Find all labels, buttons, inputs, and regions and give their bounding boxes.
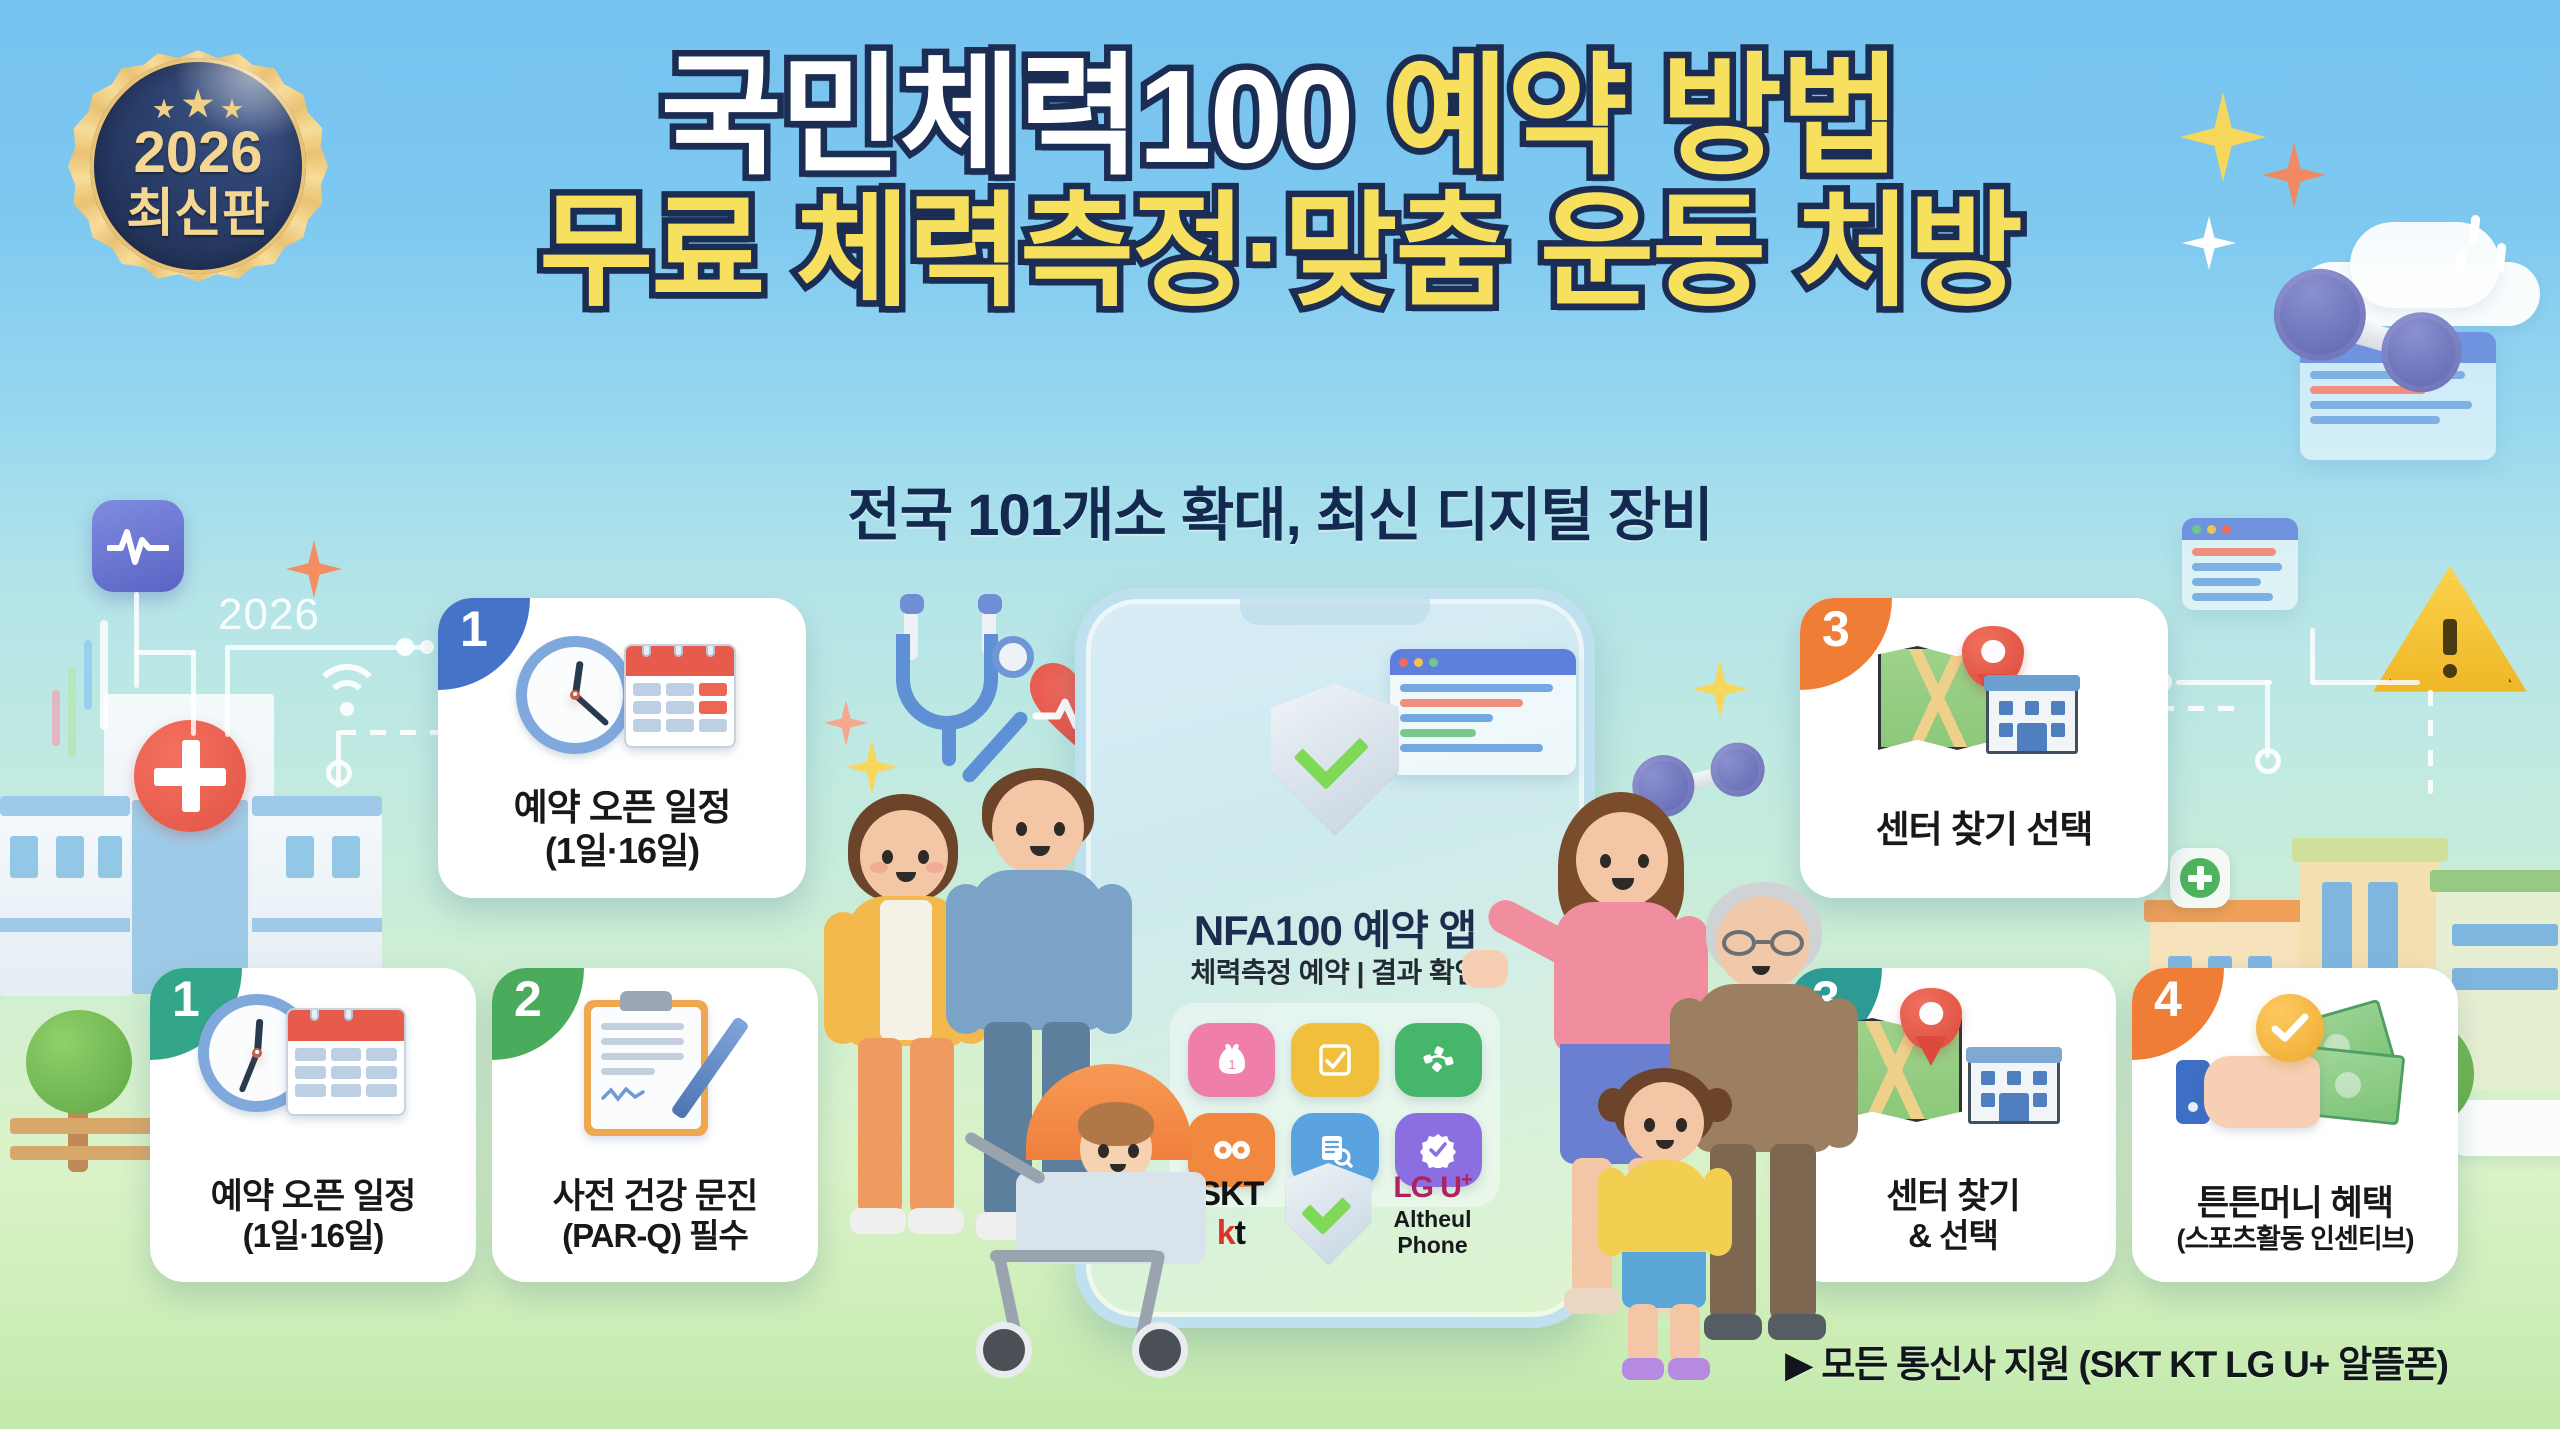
carrier-lgu-altheul: LG U+ Altheul Phone xyxy=(1393,1169,1471,1258)
card-title: 예약 오픈 일정 xyxy=(514,786,731,830)
card-subtitle: (1일·16일) xyxy=(514,830,731,872)
connector-ring xyxy=(326,760,352,786)
sparkle-icon xyxy=(1692,660,1748,718)
star-icon xyxy=(153,98,175,120)
badge-label: 최신판 xyxy=(126,186,270,243)
connector-line xyxy=(2176,680,2272,685)
headline-subtitle: 전국 101개소 확대, 최신 디지털 장비 xyxy=(430,468,2130,552)
baby-hair xyxy=(1078,1102,1154,1146)
connector-line xyxy=(2310,628,2315,684)
warning-icon xyxy=(2370,560,2530,700)
carrier-lgu-label: LG U+ xyxy=(1393,1169,1471,1206)
app-subtitle: 체력측정 예약 | 결과 확인 xyxy=(1086,951,1584,991)
headline-line-2: 무료 체력측정·맞춤 운동 처방 xyxy=(430,189,2130,315)
info-card-bottom-1[interactable]: 1 예약 오픈 일정 (1일·16일) xyxy=(150,968,476,1282)
star-icon xyxy=(221,98,243,120)
connector-dashed-line xyxy=(2158,706,2240,711)
sparkle-icon xyxy=(2262,142,2326,208)
sparkle-icon xyxy=(824,700,868,746)
altheul-line-1: Altheul xyxy=(1394,1206,1472,1232)
carrier-kt-label: kt xyxy=(1217,1214,1245,1253)
sparkle-icon xyxy=(2182,216,2236,270)
poster-canvas: 2026 xyxy=(0,0,2560,1429)
card-text: 예약 오픈 일정 (1일·16일) xyxy=(197,1176,430,1282)
card-title: 예약 오픈 일정 xyxy=(211,1176,416,1217)
glasses-icon xyxy=(1722,930,1804,956)
browser-window-icon xyxy=(1390,649,1576,775)
carrier-lgu-plus: + xyxy=(1461,1169,1472,1191)
pulse-wave-icon xyxy=(107,526,169,566)
svg-text:1: 1 xyxy=(1228,1057,1235,1072)
card-subtitle: & 선택 xyxy=(1886,1217,2020,1256)
shield-check-icon xyxy=(1271,683,1399,835)
headline-block: 국민체력100 예약 방법 무료 체력측정·맞춤 운동 처방 xyxy=(430,50,2130,315)
card-text: 예약 오픈 일정 (1일·16일) xyxy=(500,786,745,898)
browser-window-icon xyxy=(2182,518,2298,610)
stroller-wheel xyxy=(1132,1322,1188,1378)
map-building-pin-icon xyxy=(1800,632,2168,782)
scatter-icon[interactable] xyxy=(1395,1023,1482,1097)
card-title: 사전 건강 문진 xyxy=(553,1176,758,1217)
motion-marks-decor xyxy=(2470,215,2530,275)
pulse-icon xyxy=(92,500,184,592)
headline-primary: 국민체력100 xyxy=(660,43,1352,190)
card-title: 튼튼머니 혜택 xyxy=(2176,1183,2413,1224)
card-subtitle: (PAR-Q) 필수 xyxy=(553,1217,758,1256)
carrier-lgu-text: LG U xyxy=(1393,1171,1461,1204)
clock-calendar-icon xyxy=(150,994,476,1144)
checklist-icon[interactable] xyxy=(1291,1023,1378,1097)
connector-line xyxy=(191,650,196,736)
connector-line xyxy=(225,645,425,650)
info-card-bottom-4[interactable]: 4 튼튼머니 혜택 (스포츠활동 인센티브) xyxy=(2132,968,2458,1282)
equalizer-decor xyxy=(48,630,158,790)
pointing-hand xyxy=(1462,950,1508,988)
carrier-support-caption: ▶ 모든 통신사 지원 (SKT KT LG U+ 알뜰폰) xyxy=(1785,1334,2448,1388)
person-girl xyxy=(1596,1072,1756,1392)
clipboard-pen-icon xyxy=(492,996,818,1146)
badge-year: 2026 xyxy=(133,124,262,182)
wifi-dot-icon xyxy=(340,702,354,716)
card-text: 튼튼머니 혜택 (스포츠활동 인센티브) xyxy=(2162,1183,2427,1282)
phone-notch xyxy=(1240,599,1430,625)
connector-line xyxy=(2265,680,2270,758)
card-text: 센터 찾기 선택 xyxy=(1862,808,2107,898)
star-icon xyxy=(182,88,214,120)
background-year-label: 2026 xyxy=(218,590,320,640)
card-subtitle: (스포츠활동 인센티브) xyxy=(2176,1224,2413,1256)
green-cross-pin-icon xyxy=(2170,848,2230,908)
info-card-top-3[interactable]: 3 센터 찾기 선택 xyxy=(1800,598,2168,898)
card-subtitle: (1일·16일) xyxy=(211,1217,416,1256)
headline-secondary: 무료 체력측정·맞춤 운동 처방 xyxy=(539,183,2021,321)
altheul-line-2: Phone xyxy=(1397,1232,1467,1258)
stroller-with-baby xyxy=(920,1060,1220,1400)
info-card-bottom-2[interactable]: 2 사전 건강 문진 (PAR-Q) 필수 xyxy=(492,968,818,1282)
badge-stars xyxy=(153,88,243,120)
carrier-kt-t: t xyxy=(1235,1214,1245,1252)
connector-line xyxy=(225,645,230,737)
badge-disc: 2026 최신판 xyxy=(90,58,306,274)
card-title: 센터 찾기 선택 xyxy=(1876,808,2093,852)
caption-arrow-icon: ▶ xyxy=(1785,1344,1812,1385)
stroller-wheel xyxy=(976,1322,1032,1378)
info-card-top-1[interactable]: 1 예약 오픈 일정 (1일·16일) xyxy=(438,598,806,898)
check-badge-icon xyxy=(2256,994,2324,1062)
edition-badge: 2026 최신판 xyxy=(68,36,328,296)
headline-accent: 예약 방법 xyxy=(1387,43,1899,190)
hand-money-check-icon xyxy=(2132,998,2458,1148)
signature-icon xyxy=(601,1085,645,1103)
card-title: 센터 찾기 xyxy=(1886,1176,2020,1217)
sparkle-icon xyxy=(2180,92,2266,182)
headline-line-1: 국민체력100 예약 방법 xyxy=(430,50,2130,185)
card-text: 사전 건강 문진 (PAR-Q) 필수 xyxy=(539,1176,772,1282)
clock-calendar-icon xyxy=(438,632,806,782)
caption-text: 모든 통신사 지원 (SKT KT LG U+ 알뜰폰) xyxy=(1821,1344,2447,1385)
connector-line xyxy=(2310,680,2420,685)
connector-dot xyxy=(420,640,434,654)
connector-dot xyxy=(396,638,414,656)
shield-check-icon xyxy=(1285,1163,1371,1265)
check-icon xyxy=(2271,1013,2309,1043)
card-text: 센터 찾기 & 선택 xyxy=(1872,1176,2034,1282)
